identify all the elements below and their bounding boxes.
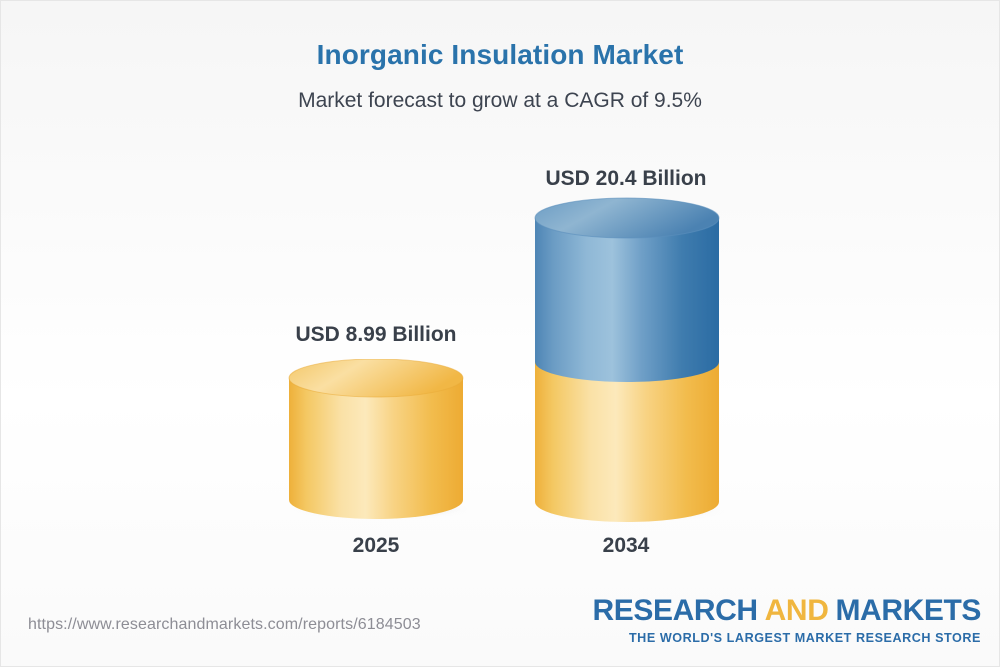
logo-wordmark: RESEARCHANDMARKETS	[593, 596, 981, 626]
plot-area: USD 8.99 Billion	[1, 1, 1000, 601]
footer: https://www.researchandmarkets.com/repor…	[1, 588, 999, 666]
category-label-2034: 2034	[535, 534, 717, 558]
logo-word-markets: MARKETS	[835, 594, 981, 627]
category-label-2025: 2025	[289, 534, 463, 558]
value-label-2034: USD 20.4 Billion	[531, 167, 721, 191]
bar-cylinder-2025[interactable]	[285, 359, 467, 521]
chart-canvas: Inorganic Insulation Market Market forec…	[0, 0, 1000, 667]
logo-word-research: RESEARCH	[593, 594, 758, 627]
logo-word-and: AND	[765, 594, 829, 627]
research-and-markets-logo[interactable]: RESEARCHANDMARKETS THE WORLD'S LARGEST M…	[593, 596, 981, 645]
logo-tagline: THE WORLD'S LARGEST MARKET RESEARCH STOR…	[593, 631, 981, 645]
bar-cylinder-2034[interactable]	[529, 197, 725, 522]
source-url[interactable]: https://www.researchandmarkets.com/repor…	[28, 616, 421, 634]
value-label-2025: USD 8.99 Billion	[289, 323, 463, 347]
